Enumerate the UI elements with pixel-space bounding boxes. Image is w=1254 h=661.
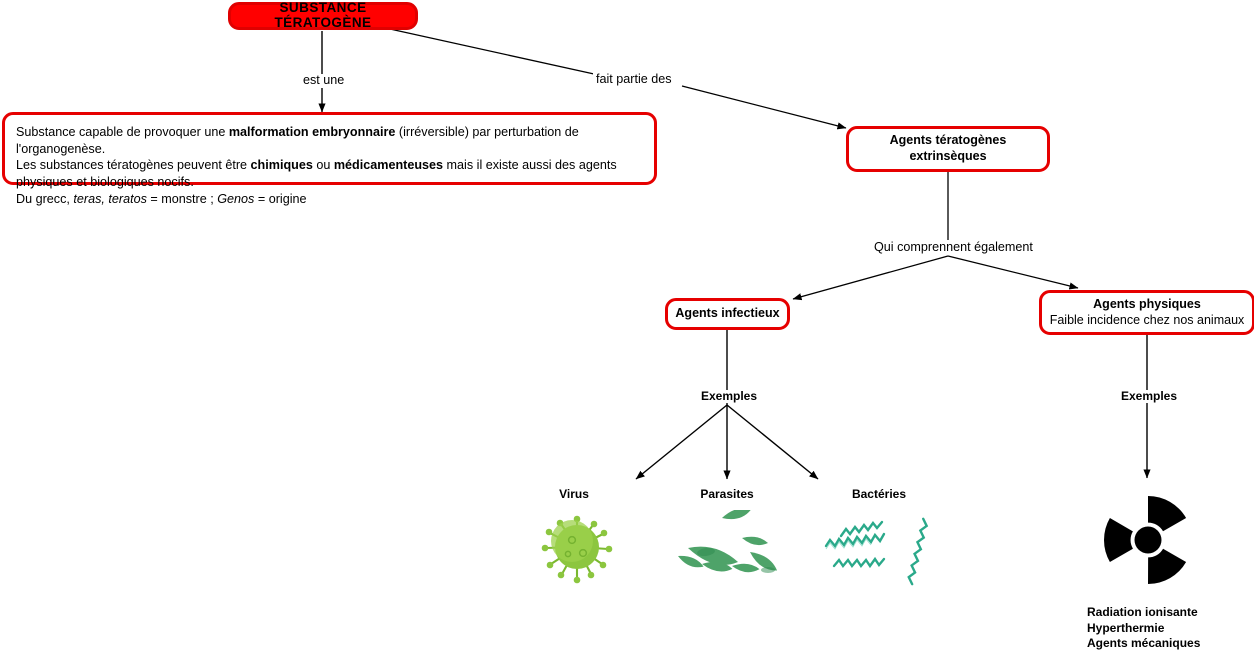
- node-infectieux-label: Agents infectieux: [675, 306, 779, 322]
- definition-line-4: Du grecc, teras, teratos = monstre ; Gen…: [16, 191, 643, 208]
- concept-map-canvas: SUBSTANCE TÉRATOGÈNE Substance capable d…: [0, 0, 1254, 661]
- def-l4-italic-1: teras, teratos: [73, 192, 147, 206]
- physiques-example-line-3: Agents mécaniques: [1087, 636, 1254, 652]
- def-l2-e: mais il existe aussi des agents: [443, 158, 617, 172]
- node-substance-teratogene[interactable]: SUBSTANCE TÉRATOGÈNE: [228, 2, 418, 30]
- def-l2-a: Les substances tératogènes peuvent être: [16, 158, 251, 172]
- edge-exemples-to-bacteries: [727, 405, 818, 479]
- edge-root-to-extrinseques-seg1: [390, 29, 594, 74]
- leaf-label-bacteries: Bactéries: [848, 487, 910, 503]
- def-l4-e: = origine: [254, 192, 306, 206]
- node-root-label: SUBSTANCE TÉRATOGÈNE: [231, 1, 415, 31]
- edge-label-est-une: est une: [300, 74, 347, 88]
- def-l2-bold-1: chimiques: [251, 158, 313, 172]
- edge-label-fait-partie-des: fait partie des: [593, 73, 675, 87]
- def-l2-bold-2: médicamenteuses: [334, 158, 443, 172]
- edge-exemples-to-virus: [636, 405, 727, 479]
- virus-icon: [538, 504, 616, 586]
- physiques-example-line-1: Radiation ionisante: [1087, 605, 1254, 621]
- node-extrinseques-line1: Agents tératogènes: [890, 133, 1007, 149]
- node-agents-infectieux[interactable]: Agents infectieux: [665, 298, 790, 330]
- leaf-label-physiques-examples: Radiation ionisante Hyperthermie Agents …: [1087, 605, 1254, 652]
- leaf-label-virus: Virus: [554, 487, 594, 503]
- edge-label-exemples-physiques: Exemples: [1118, 390, 1180, 403]
- node-agents-physiques[interactable]: Agents physiques Faible incidence chez n…: [1039, 290, 1254, 335]
- edge-root-to-extrinseques-seg2: [682, 86, 846, 128]
- def-l4-a: Du grecc,: [16, 192, 73, 206]
- edge-label-exemples-infectieux: Exemples: [698, 390, 760, 403]
- node-extrinseques-line2: extrinsèques: [909, 149, 986, 165]
- leaf-label-parasites: Parasites: [698, 487, 756, 503]
- def-l1-a: Substance capable de provoquer une: [16, 125, 229, 139]
- node-physiques-subtitle: Faible incidence chez nos animaux: [1050, 313, 1245, 329]
- definition-line-1: Substance capable de provoquer une malfo…: [16, 124, 643, 157]
- parasites-icon: [676, 510, 790, 588]
- radiation-trefoil-icon: [1087, 486, 1209, 596]
- definition-line-2: Les substances tératogènes peuvent être …: [16, 157, 643, 174]
- definition-box: Substance capable de provoquer une malfo…: [2, 112, 657, 185]
- physiques-example-line-2: Hyperthermie: [1087, 621, 1254, 637]
- edge-to-agents-infectieux: [793, 256, 948, 299]
- definition-line-3: physiques et biologiques nocifs.: [16, 174, 643, 191]
- def-l2-c: ou: [313, 158, 334, 172]
- edge-label-qui-comprennent-egalement: Qui comprennent également: [871, 241, 1036, 255]
- node-agents-teratogenes-extrinseques[interactable]: Agents tératogènes extrinsèques: [846, 126, 1050, 172]
- def-l4-c: = monstre ;: [147, 192, 217, 206]
- bacteria-spirochete-icon: [820, 504, 940, 586]
- edge-to-agents-physiques: [948, 256, 1078, 288]
- node-physiques-label: Agents physiques: [1093, 297, 1201, 313]
- def-l4-italic-2: Genos: [217, 192, 254, 206]
- def-l1-bold: malformation embryonnaire: [229, 125, 396, 139]
